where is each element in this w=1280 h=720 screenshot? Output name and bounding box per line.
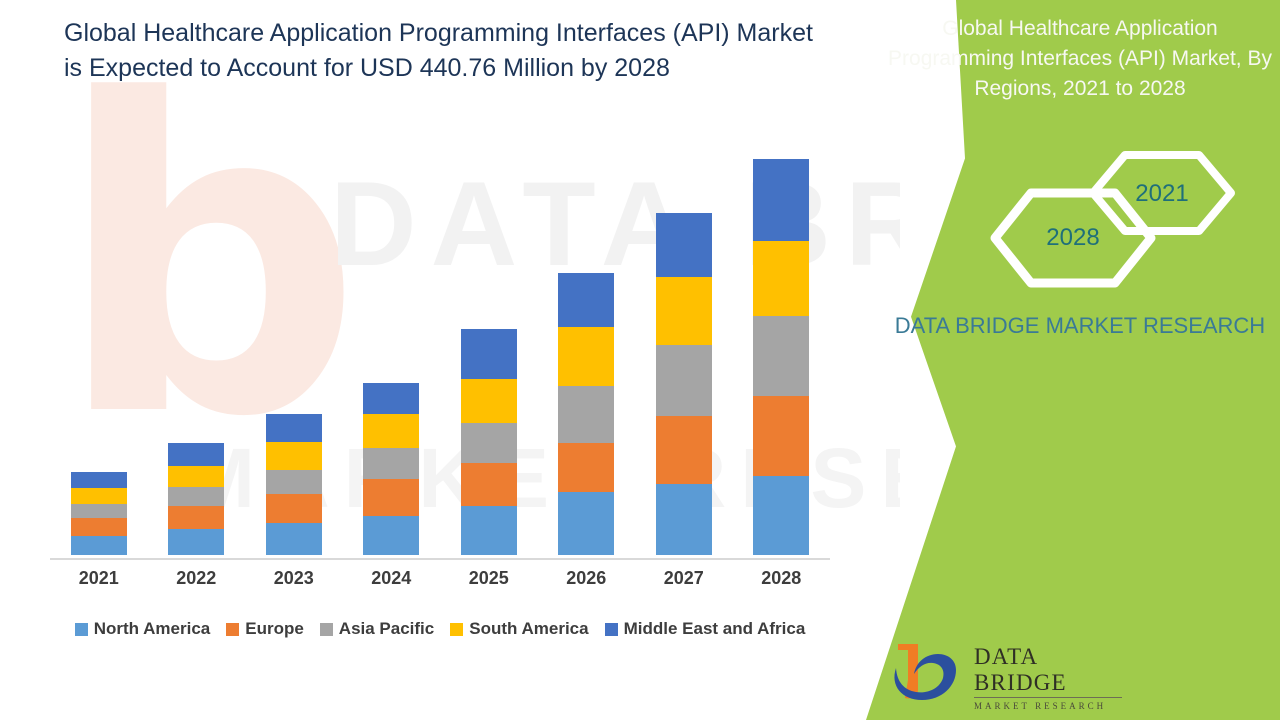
legend-label: North America — [94, 619, 211, 639]
legend-swatch-icon — [450, 623, 463, 636]
bar-group[interactable] — [266, 414, 322, 555]
bar-segment[interactable] — [168, 529, 224, 555]
bar-segment[interactable] — [71, 536, 127, 555]
bar-segment[interactable] — [461, 379, 517, 423]
logo-mark-icon — [888, 640, 966, 706]
x-axis-label: 2023 — [246, 568, 342, 589]
legend-item[interactable]: Europe — [226, 619, 304, 639]
bar-segment[interactable] — [461, 463, 517, 506]
legend-swatch-icon — [320, 623, 333, 636]
bar-segment[interactable] — [363, 516, 419, 555]
bar-segment[interactable] — [558, 492, 614, 555]
x-axis-label: 2025 — [441, 568, 537, 589]
bar-segment[interactable] — [558, 327, 614, 386]
bar-segment[interactable] — [363, 414, 419, 448]
bar-segment[interactable] — [753, 396, 809, 476]
bar-segment[interactable] — [461, 423, 517, 464]
bar-segment[interactable] — [266, 494, 322, 523]
data-bridge-logo: DATA BRIDGE MARKET RESEARCH — [888, 640, 1118, 706]
bar-segment[interactable] — [168, 443, 224, 465]
green-side-panel — [830, 0, 1280, 720]
bar-segment[interactable] — [71, 504, 127, 518]
bar-segment[interactable] — [266, 523, 322, 555]
bar-segment[interactable] — [461, 329, 517, 379]
legend-item[interactable]: Asia Pacific — [320, 619, 434, 639]
legend-swatch-icon — [605, 623, 618, 636]
bar-segment[interactable] — [558, 443, 614, 492]
bar-segment[interactable] — [558, 386, 614, 444]
bar-segment[interactable] — [71, 472, 127, 488]
logo-title: DATA BRIDGE — [974, 644, 1124, 696]
bar-segment[interactable] — [266, 442, 322, 470]
x-axis-label: 2024 — [343, 568, 439, 589]
bar-segment[interactable] — [71, 488, 127, 504]
bar-segment[interactable] — [656, 277, 712, 345]
x-axis-label: 2028 — [733, 568, 829, 589]
bar-group[interactable] — [753, 159, 809, 555]
logo-wordmark: DATA BRIDGE MARKET RESEARCH — [974, 644, 1124, 711]
chart-plot-area — [50, 150, 830, 557]
bar-segment[interactable] — [558, 273, 614, 327]
bar-segment[interactable] — [753, 476, 809, 555]
bar-segment[interactable] — [753, 159, 809, 241]
x-axis-label: 2021 — [51, 568, 147, 589]
bar-segment[interactable] — [656, 213, 712, 277]
x-axis-label: 2026 — [538, 568, 634, 589]
bar-group[interactable] — [461, 329, 517, 555]
bar-segment[interactable] — [753, 316, 809, 396]
legend-item[interactable]: South America — [450, 619, 588, 639]
bar-segment[interactable] — [461, 506, 517, 555]
bar-group[interactable] — [558, 273, 614, 555]
x-axis-line — [50, 558, 830, 560]
bar-segment[interactable] — [363, 383, 419, 414]
bar-segment[interactable] — [753, 241, 809, 317]
bar-segment[interactable] — [656, 484, 712, 555]
logo-subtitle: MARKET RESEARCH — [974, 701, 1124, 711]
bar-segment[interactable] — [656, 345, 712, 416]
bar-segment[interactable] — [363, 479, 419, 515]
hexagon-badge-end-year: 2028 — [988, 188, 1158, 288]
bar-segment[interactable] — [168, 487, 224, 506]
infographic-page: b DATA BRIDGE MARKET RESEARCH Global Hea… — [0, 0, 1280, 720]
bar-segment[interactable] — [168, 466, 224, 487]
bar-segment[interactable] — [266, 470, 322, 495]
chart-legend: North AmericaEuropeAsia PacificSouth Ame… — [50, 615, 830, 643]
bar-group[interactable] — [71, 472, 127, 555]
bar-segment[interactable] — [266, 414, 322, 442]
brand-name: DATA BRIDGE MARKET RESEARCH — [880, 310, 1280, 342]
panel-heading-text: Global Healthcare Application Programmin… — [888, 17, 1272, 100]
bar-segment[interactable] — [656, 416, 712, 483]
legend-label: Europe — [245, 619, 304, 639]
legend-item[interactable]: North America — [75, 619, 211, 639]
logo-divider — [974, 697, 1122, 698]
legend-item[interactable]: Middle East and Africa — [605, 619, 806, 639]
legend-swatch-icon — [226, 623, 239, 636]
hexagon-badges: 2021 2028 — [980, 150, 1240, 280]
legend-label: South America — [469, 619, 588, 639]
bar-segment[interactable] — [168, 506, 224, 529]
bar-group[interactable] — [363, 383, 419, 555]
bar-segment[interactable] — [71, 518, 127, 536]
hexagon-end-year-label: 2028 — [988, 224, 1158, 252]
x-axis-label: 2022 — [148, 568, 244, 589]
legend-label: Asia Pacific — [339, 619, 434, 639]
legend-label: Middle East and Africa — [624, 619, 806, 639]
stacked-bar-chart — [50, 150, 830, 560]
x-axis-labels: 20212022202320242025202620272028 — [50, 568, 830, 594]
page-title: Global Healthcare Application Programmin… — [64, 16, 824, 85]
bar-group[interactable] — [656, 213, 712, 555]
bar-segment[interactable] — [363, 448, 419, 479]
legend-swatch-icon — [75, 623, 88, 636]
panel-heading: Global Healthcare Application Programmin… — [880, 14, 1280, 103]
x-axis-label: 2027 — [636, 568, 732, 589]
bar-group[interactable] — [168, 443, 224, 555]
